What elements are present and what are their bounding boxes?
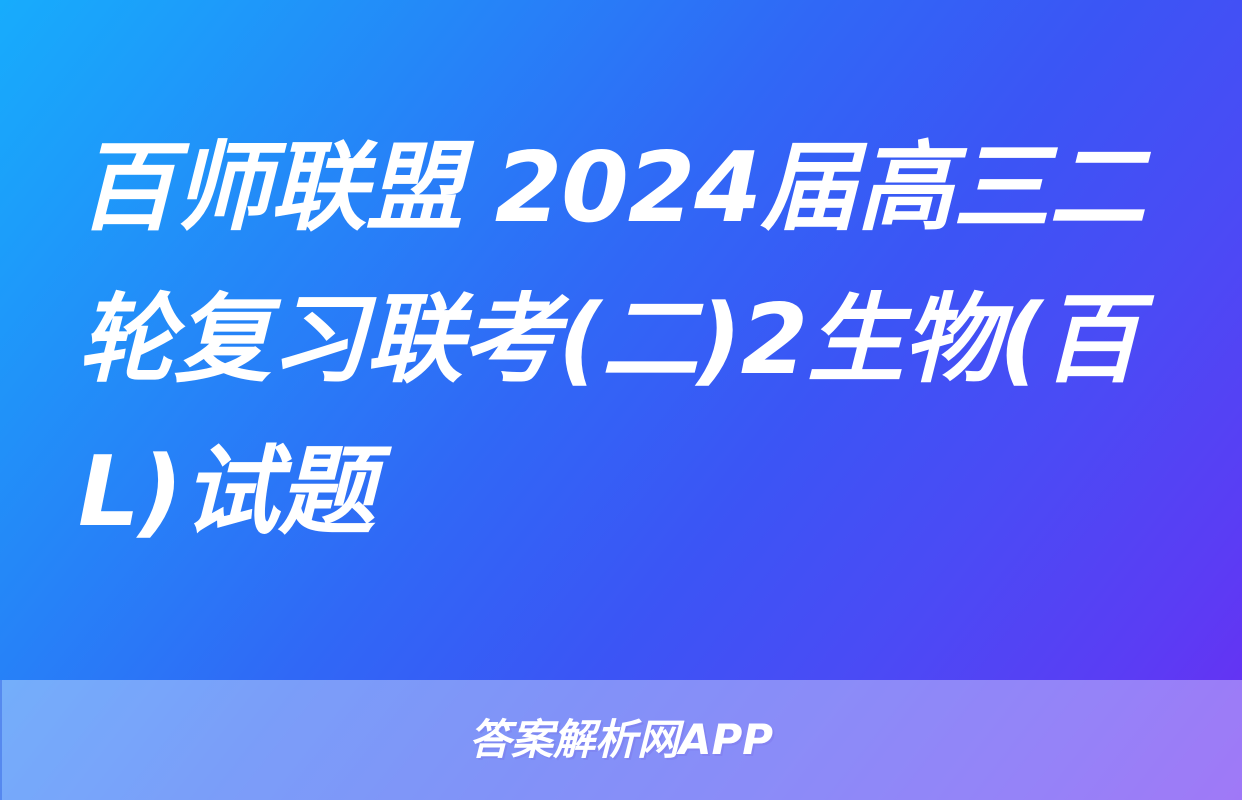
band-left-edge-seam (0, 680, 2, 800)
page-title: 百师联盟 2024届高三二轮复习联考(二)2生物(百L)试题 (78, 112, 1164, 568)
watermark-band: 答案解析网APP (0, 680, 1242, 800)
promo-card: 百师联盟 2024届高三二轮复习联考(二)2生物(百L)试题 答案解析网APP (0, 0, 1242, 800)
title-block: 百师联盟 2024届高三二轮复习联考(二)2生物(百L)试题 (0, 0, 1242, 680)
watermark-brand-label: 答案解析网APP (469, 717, 773, 763)
